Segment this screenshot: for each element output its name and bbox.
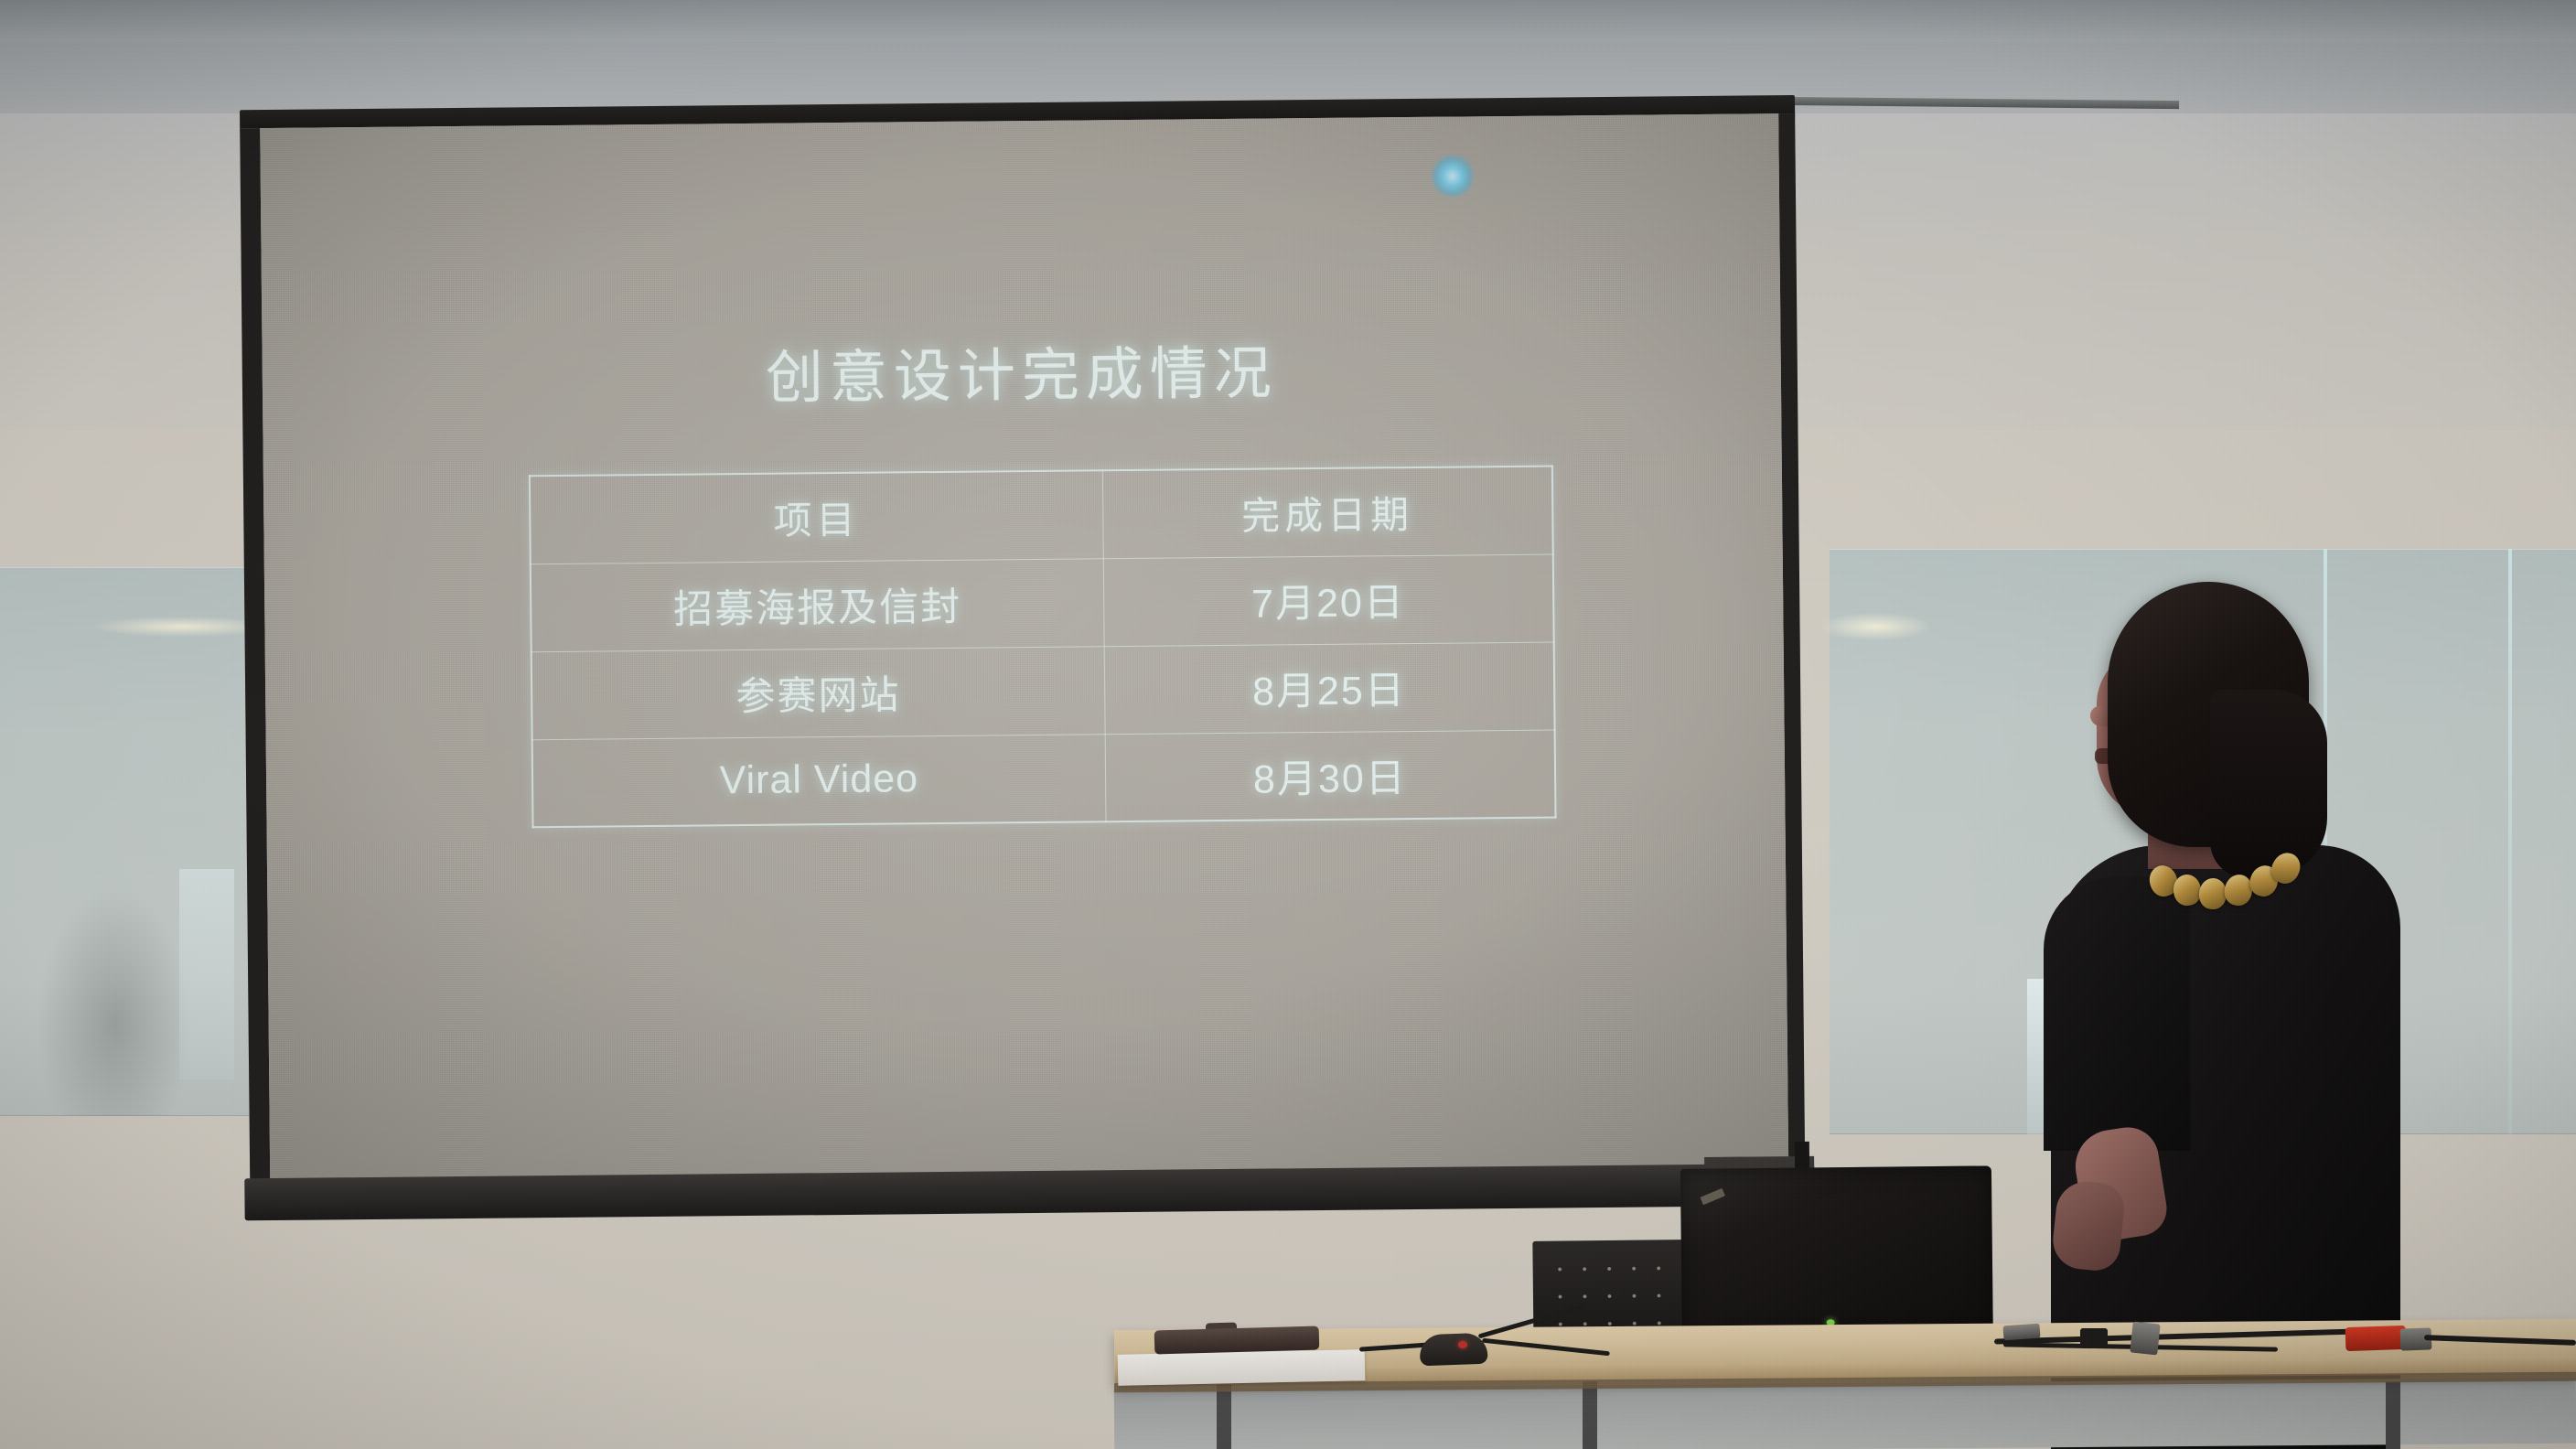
presenter-woman <box>2040 582 2442 1449</box>
table-cell-date: 8月30日 <box>1105 730 1556 822</box>
room-photo-scene: 创意设计完成情况 项目 完成日期 招募海报及信封 7月20日 参赛网站 <box>0 0 2576 1449</box>
table-cell-item: Viral Video <box>532 734 1106 827</box>
table-row: Viral Video 8月30日 <box>532 730 1556 828</box>
computer-mouse[interactable] <box>1419 1333 1487 1367</box>
necklace-bead <box>2172 874 2202 907</box>
frosted-glass-partition-left <box>0 567 274 1116</box>
ceiling-light-reflection <box>1820 613 1930 640</box>
projector-cursor-glow-icon <box>1432 155 1474 197</box>
table-cell-item: 参赛网站 <box>531 646 1105 739</box>
glass-seam <box>2508 549 2512 1134</box>
screen-frame: 创意设计完成情况 项目 完成日期 招募海报及信封 7月20日 参赛网站 <box>240 113 1805 1189</box>
ceiling-band <box>0 0 2576 42</box>
desk-leg <box>1583 1381 1597 1449</box>
presentation-remote[interactable] <box>1154 1326 1320 1354</box>
red-cable-connector <box>2345 1326 2407 1351</box>
silhouette-shadow <box>37 887 192 1116</box>
table-cell-date: 8月25日 <box>1104 642 1555 735</box>
table-header-date: 完成日期 <box>1102 467 1553 559</box>
presenter-hand-left <box>2050 1178 2127 1272</box>
slide-table: 项目 完成日期 招募海报及信封 7月20日 参赛网站 8月25日 Viral <box>529 466 1557 829</box>
table-cell-date: 7月20日 <box>1103 554 1554 647</box>
projection-screen: 创意设计完成情况 项目 完成日期 招募海报及信封 7月20日 参赛网站 <box>240 95 1824 1255</box>
cable-plug <box>2130 1322 2160 1356</box>
thinkpad-logo-icon <box>1700 1188 1724 1205</box>
presenter-hair-back <box>2210 690 2327 878</box>
table-header-item: 项目 <box>530 470 1103 563</box>
paper-sheet <box>1118 1349 1366 1386</box>
table-row: 招募海报及信封 7月20日 <box>531 554 1554 652</box>
table-row: 参赛网站 8月25日 <box>531 642 1555 740</box>
necklace-bead <box>2198 877 2227 910</box>
presenter-shoulder <box>2044 876 2190 1151</box>
desk-leg <box>2386 1381 2400 1449</box>
presenter-gold-necklace <box>2150 853 2296 907</box>
projected-slide-surface: 创意设计完成情况 项目 完成日期 招募海报及信封 7月20日 参赛网站 <box>260 113 1788 1189</box>
window-glow <box>179 869 234 1079</box>
cable-plug <box>2002 1324 2040 1341</box>
slide-title: 创意设计完成情况 <box>262 322 1781 420</box>
mouse-led-icon <box>1458 1341 1467 1348</box>
table-cell-item: 招募海报及信封 <box>531 558 1104 651</box>
cable-clip <box>2080 1328 2108 1348</box>
table-header-row: 项目 完成日期 <box>530 467 1553 564</box>
laptop-lid <box>1680 1165 1993 1339</box>
